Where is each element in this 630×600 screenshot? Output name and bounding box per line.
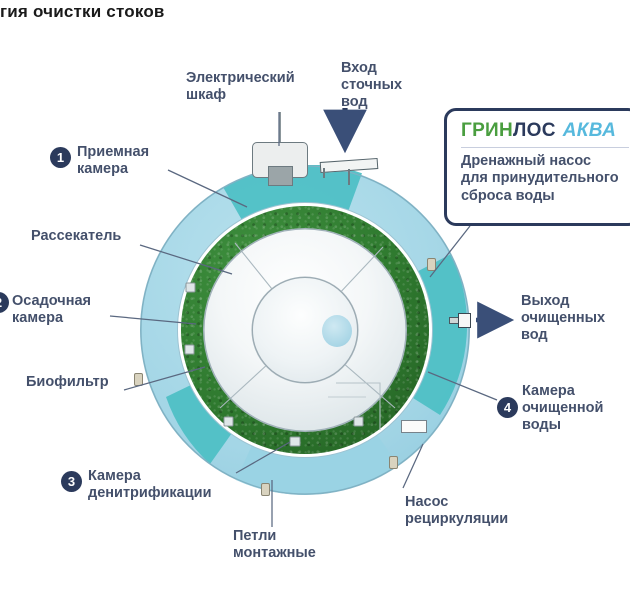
label-vyhod-line3: вод: [521, 327, 605, 344]
label-nasos-line2: рециркуляции: [405, 511, 508, 528]
label-vhod-stochnyh-vod: Вход сточных вод: [341, 60, 402, 110]
label-elektricheskiy-shkaf: Электрический шкаф: [186, 70, 295, 104]
brand-desc-line1: Дренажный насос: [461, 153, 630, 170]
label-petli-montazhnye: Петли монтажные: [233, 528, 316, 562]
label-priemnaya-line1: Приемная: [77, 144, 149, 161]
label-kamera-denitrifikacii: Камера денитрификации: [88, 468, 211, 502]
brand-part-los: ЛОС: [513, 120, 556, 141]
brand-divider: [461, 147, 629, 148]
badge-4: 4: [497, 397, 518, 418]
badge-1: 1: [50, 147, 71, 168]
label-vhod-line2: сточных: [341, 77, 402, 94]
brand-description: Дренажный насос для принудительного сбро…: [461, 153, 630, 205]
label-shkaf-line2: шкаф: [186, 87, 295, 104]
brand-desc-line3: сброса воды: [461, 188, 630, 205]
brand-part-aqua: АКВА: [563, 120, 616, 141]
label-petli-line1: Петли: [233, 528, 316, 545]
brand-logo: ГРИНЛОСАКВА: [461, 120, 630, 142]
label-osadochnaya-line1: Осадочная: [12, 293, 91, 310]
label-biofiltr: Биофильтр: [26, 374, 109, 391]
label-priemnaya-kamera: Приемная камера: [77, 144, 149, 178]
label-ochishch-line2: очищенной: [522, 400, 603, 417]
label-petli-line2: монтажные: [233, 545, 316, 562]
brand-callout-box: ГРИНЛОСАКВА Дренажный насос для принудит…: [444, 108, 630, 226]
label-vyhod-line2: очищенных: [521, 310, 605, 327]
label-shkaf-line1: Электрический: [186, 70, 295, 87]
label-priemnaya-line2: камера: [77, 161, 149, 178]
label-nasos-line1: Насос: [405, 494, 508, 511]
brand-desc-line2: для принудительного: [461, 170, 630, 187]
badge-3: 3: [61, 471, 82, 492]
label-nasos-recirkulyacii: Насос рециркуляции: [405, 494, 508, 528]
label-osadochnaya-kamera: Осадочная камера: [12, 293, 91, 327]
label-vhod-line1: Вход: [341, 60, 402, 77]
diagram-canvas: нология очистки стоков: [0, 0, 630, 600]
label-kamera-ochishchennoy-vody: Камера очищенной воды: [522, 383, 603, 433]
label-denitr-line2: денитрификации: [88, 485, 211, 502]
label-ochishch-line3: воды: [522, 417, 603, 434]
brand-part-grin: ГРИН: [461, 120, 513, 141]
label-rassekatel: Рассекатель: [31, 228, 121, 245]
label-ochishch-line1: Камера: [522, 383, 603, 400]
label-denitr-line1: Камера: [88, 468, 211, 485]
label-vyhod-line1: Выход: [521, 293, 605, 310]
label-osadochnaya-line2: камера: [12, 310, 91, 327]
label-vhod-line3: вод: [341, 94, 402, 111]
label-vyhod-ochishchennyh-vod: Выход очищенных вод: [521, 293, 605, 343]
